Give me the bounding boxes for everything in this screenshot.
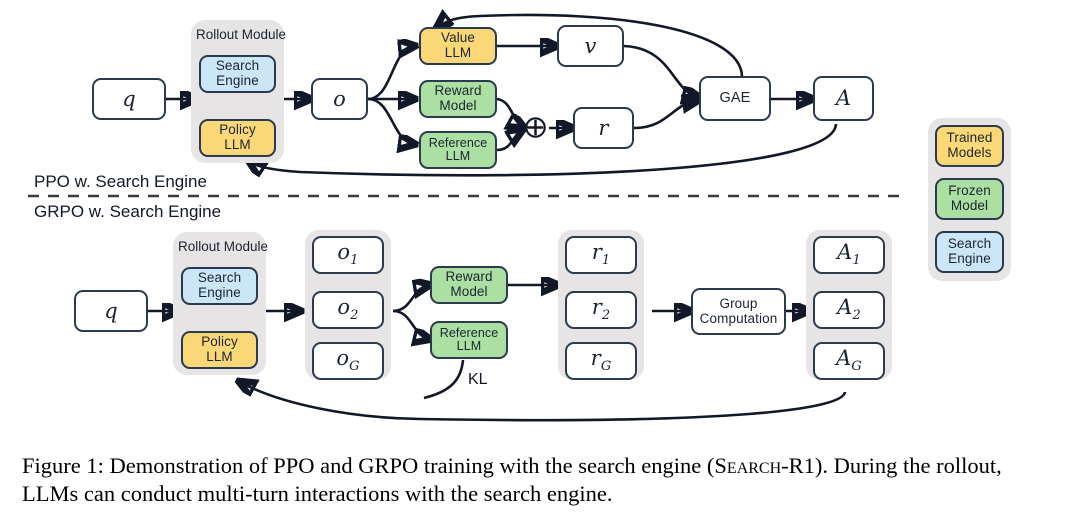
- arrow-outputs-to-reward: [393, 285, 429, 311]
- grpo-query-box: q: [74, 290, 148, 332]
- ppo-value-llm-label: ValueLLM: [441, 31, 475, 60]
- caption-line-1-post: -R1).: [781, 453, 828, 478]
- feedback-arrow-advantages-to-policy: [240, 382, 845, 420]
- grpo-reward-2-label: r2: [592, 296, 611, 323]
- ppo-reward-model-box: RewardModel: [419, 80, 497, 118]
- ppo-search-engine-label: SearchEngine: [216, 59, 259, 88]
- legend-item-trained-models: TrainedModels: [935, 125, 1004, 167]
- grpo-reference-llm-label: ReferenceLLM: [440, 327, 499, 354]
- grpo-output-2-box: o2: [312, 291, 384, 329]
- ppo-advantage-label: A: [836, 87, 851, 110]
- arrow-o-to-value: [368, 46, 414, 99]
- grpo-advantage-2-box: A2: [813, 291, 885, 329]
- grpo-reward-G-label: rG: [591, 347, 612, 374]
- arrow-v-to-gae: [624, 46, 698, 97]
- legend-trained-models-label: TrainedModels: [947, 131, 993, 160]
- grpo-group-computation-box: GroupComputation: [691, 288, 786, 335]
- ppo-gae-label: GAE: [720, 91, 751, 107]
- grpo-advantage-1-label: A1: [837, 241, 861, 268]
- ppo-policy-llm-box: PolicyLLM: [199, 119, 276, 157]
- legend-search-engine-label: SearchEngine: [948, 237, 991, 266]
- grpo-search-engine-box: SearchEngine: [181, 267, 258, 305]
- ppo-value-llm-box: ValueLLM: [419, 27, 497, 65]
- ppo-reference-llm-box: ReferenceLLM: [419, 131, 497, 169]
- ppo-reward-model-label: RewardModel: [434, 84, 481, 113]
- ppo-query-box: q: [92, 78, 166, 120]
- ppo-value-output-box: v: [557, 25, 624, 67]
- grpo-group-computation-label: GroupComputation: [700, 297, 778, 326]
- grpo-output-G-label: oG: [336, 347, 359, 374]
- ppo-section-label: PPO w. Search Engine: [34, 172, 207, 192]
- ppo-reward-output-label: r: [598, 117, 608, 140]
- grpo-search-engine-label: SearchEngine: [198, 271, 241, 300]
- caption-smallcaps-search: Search: [714, 453, 781, 478]
- kl-label: KL: [468, 371, 488, 389]
- arrow-reference-to-plus: [497, 130, 522, 150]
- arrow-reward-to-plus: [497, 99, 523, 127]
- kl-curve: [424, 360, 463, 398]
- grpo-rollout-module-title: Rollout Module: [178, 239, 268, 254]
- arrow-o-to-reference: [368, 99, 414, 144]
- grpo-policy-llm-label: PolicyLLM: [201, 335, 238, 364]
- grpo-output-2-label: o2: [337, 296, 358, 323]
- ppo-output-label: o: [333, 88, 346, 111]
- grpo-policy-llm-box: PolicyLLM: [181, 331, 258, 369]
- ppo-reference-llm-label: ReferenceLLM: [429, 137, 488, 164]
- ppo-query-label: q: [122, 88, 136, 111]
- ppo-advantage-box: A: [813, 76, 874, 121]
- legend-item-search-engine: SearchEngine: [935, 231, 1004, 273]
- figure-caption: Figure 1: Demonstration of PPO and GRPO …: [22, 452, 1062, 509]
- grpo-reward-model-box: RewardModel: [430, 266, 508, 304]
- grpo-reward-1-label: r1: [592, 241, 611, 268]
- figure-1-diagram: Rollout Module q SearchEngine PolicyLLM …: [0, 0, 1080, 523]
- grpo-reference-llm-box: ReferenceLLM: [430, 321, 508, 359]
- grpo-reward-2-box: r2: [565, 291, 637, 329]
- grpo-reward-1-box: r1: [565, 236, 637, 274]
- ppo-policy-llm-label: PolicyLLM: [219, 123, 256, 152]
- grpo-advantage-1-box: A1: [813, 236, 885, 274]
- plus-circle-icon: [524, 116, 547, 139]
- ppo-gae-box: GAE: [699, 76, 771, 121]
- grpo-query-label: q: [104, 300, 118, 323]
- grpo-reward-model-label: RewardModel: [445, 270, 492, 299]
- legend-frozen-model-label: FrozenModel: [948, 184, 991, 213]
- ppo-reward-output-box: r: [573, 107, 634, 149]
- legend-item-frozen-model: FrozenModel: [935, 178, 1004, 220]
- ppo-search-engine-box: SearchEngine: [199, 55, 276, 93]
- ppo-output-box: o: [311, 78, 368, 120]
- ppo-rollout-module-title: Rollout Module: [196, 27, 286, 42]
- grpo-advantage-G-label: AG: [836, 347, 862, 374]
- grpo-advantage-2-label: A2: [837, 296, 861, 323]
- grpo-reward-G-box: rG: [565, 342, 637, 380]
- arrow-r-to-gae: [634, 100, 698, 128]
- grpo-output-1-label: o1: [337, 241, 358, 268]
- ppo-value-output-label: v: [585, 35, 597, 58]
- grpo-output-G-box: oG: [312, 342, 384, 380]
- grpo-advantage-G-box: AG: [813, 342, 885, 380]
- grpo-section-label: GRPO w. Search Engine: [34, 202, 221, 222]
- caption-line-1-pre: Figure 1: Demonstration of PPO and GRPO …: [22, 453, 714, 478]
- connector-layer: [0, 0, 1080, 523]
- grpo-output-1-box: o1: [312, 236, 384, 274]
- arrow-outputs-to-reference: [393, 311, 429, 339]
